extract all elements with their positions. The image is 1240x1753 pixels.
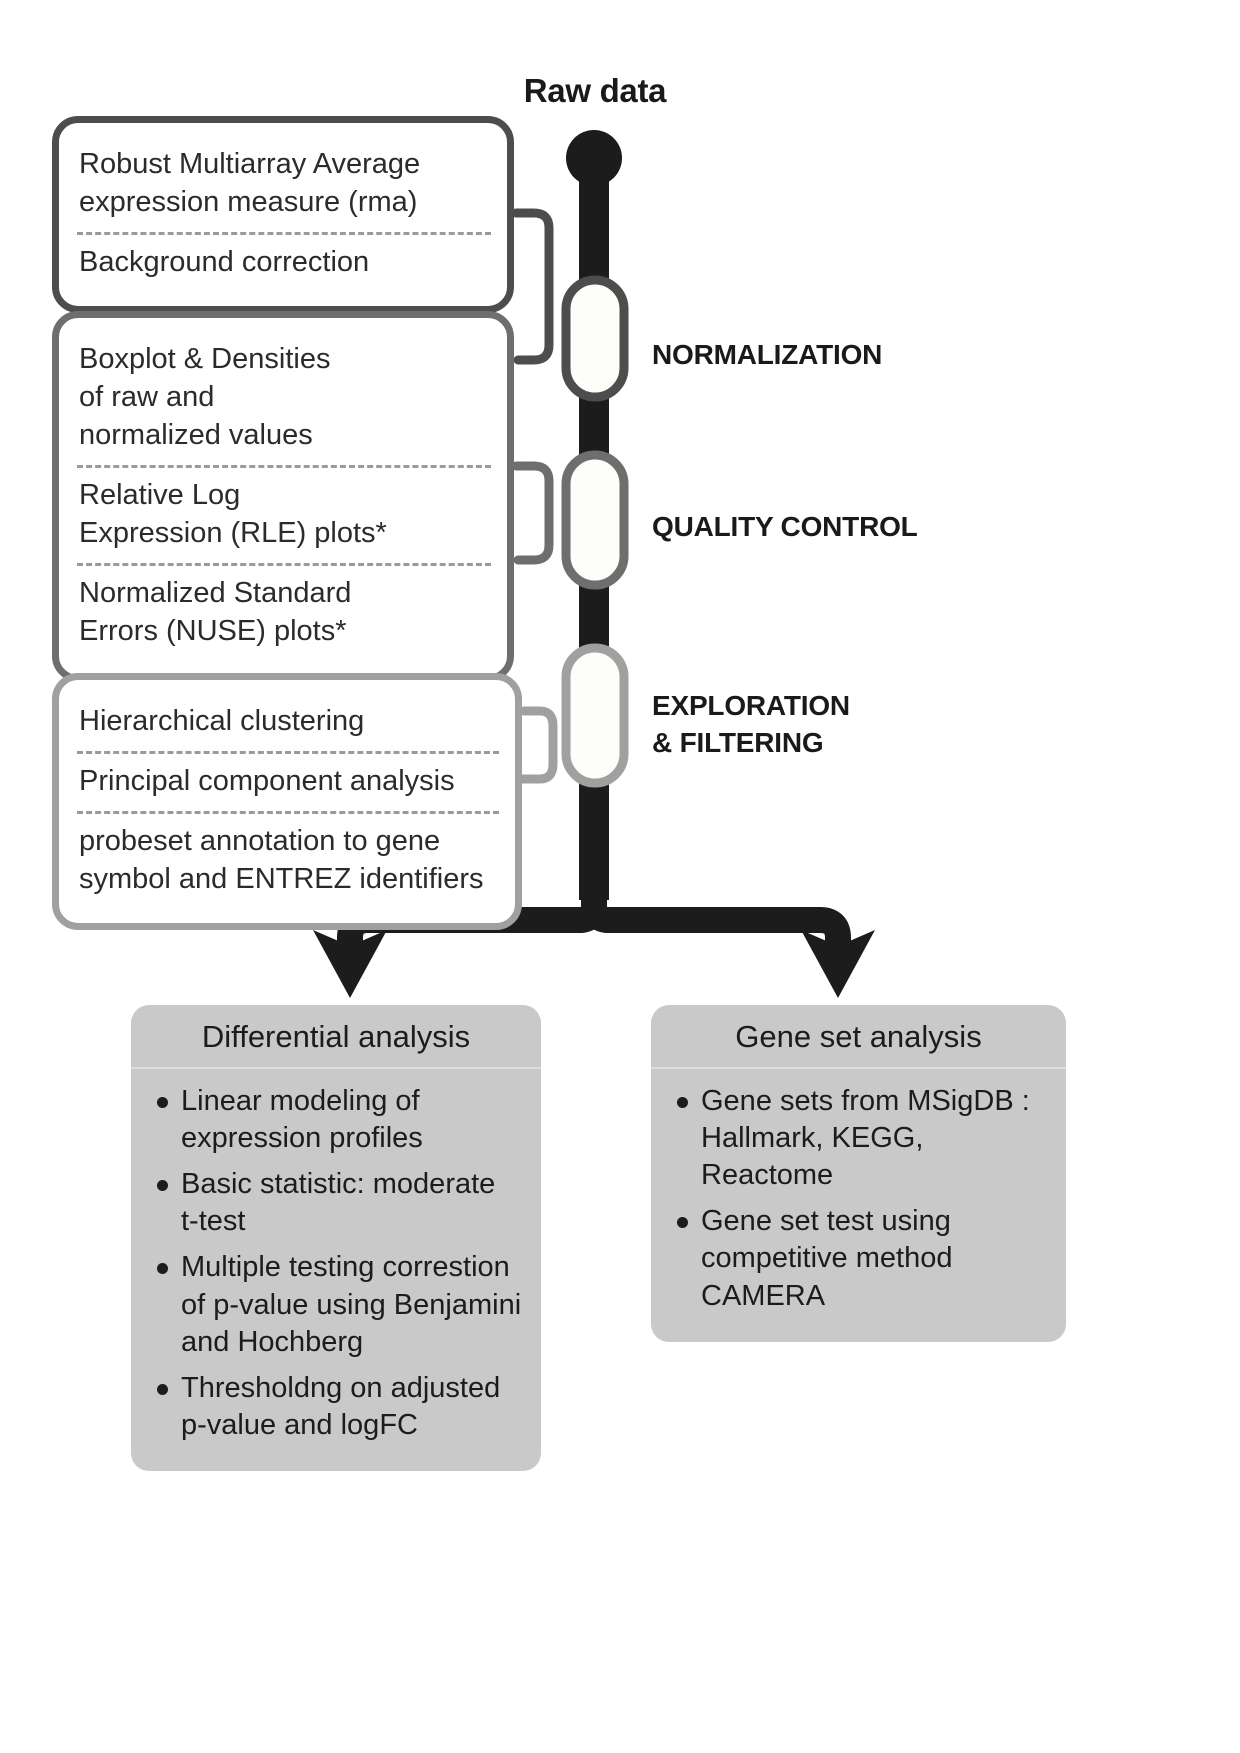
stage-label-normalization: NORMALIZATION <box>652 337 882 374</box>
stage-label-exploration-filtering: EXPLORATION & FILTERING <box>652 688 850 762</box>
capsule-exploration <box>566 648 624 783</box>
list-item: Linear modeling of expression profiles <box>151 1083 523 1157</box>
branch-right-line <box>594 888 838 960</box>
step-item: Principal component analysis <box>77 751 499 811</box>
capsule-normalization <box>566 280 624 397</box>
capsule-quality-control <box>566 455 624 585</box>
step-item: Background correction <box>77 232 491 292</box>
step-box-normalization: Robust Multiarray Average expression mea… <box>52 116 514 313</box>
step-item: Robust Multiarray Average expression mea… <box>77 137 491 232</box>
outcome-panel-differential-analysis: Differential analysis Linear modeling of… <box>131 1005 541 1471</box>
list-item: Gene set test using competitive method C… <box>671 1203 1048 1314</box>
outcome-panel-title: Differential analysis <box>131 1005 541 1069</box>
step-item: Boxplot & Densities of raw and normalize… <box>77 332 491 465</box>
outcome-bullet-list: Linear modeling of expression profiles B… <box>131 1069 541 1471</box>
raw-data-node <box>566 130 622 186</box>
outcome-panel-gene-set-analysis: Gene set analysis Gene sets from MSigDB … <box>651 1005 1066 1342</box>
connector-quality-control <box>516 466 549 560</box>
outcome-bullet-list: Gene sets from MSigDB : Hallmark, KEGG, … <box>651 1069 1066 1342</box>
outcome-panel-title: Gene set analysis <box>651 1005 1066 1069</box>
stage-label-quality-control: QUALITY CONTROL <box>652 509 918 546</box>
step-item: Hierarchical clustering <box>77 694 499 751</box>
step-box-quality-control: Boxplot & Densities of raw and normalize… <box>52 311 514 682</box>
list-item: Gene sets from MSigDB : Hallmark, KEGG, … <box>671 1083 1048 1194</box>
step-item: Normalized Standard Errors (NUSE) plots* <box>77 563 491 661</box>
connector-exploration <box>522 711 553 779</box>
step-box-exploration-filtering: Hierarchical clustering Principal compon… <box>52 673 522 930</box>
list-item: Basic statistic: moderate t-test <box>151 1166 523 1240</box>
step-item: probeset annotation to gene symbol and E… <box>77 811 499 909</box>
connector-normalization <box>516 213 549 360</box>
workflow-diagram: Raw data Robust Multiarray Average <box>0 0 1240 1753</box>
step-item: Relative Log Expression (RLE) plots* <box>77 465 491 563</box>
list-item: Multiple testing correstion of p-value u… <box>151 1249 523 1360</box>
list-item: Thresholdng on adjusted p-value and logF… <box>151 1370 523 1444</box>
trunk-segment-bottom <box>579 775 609 900</box>
